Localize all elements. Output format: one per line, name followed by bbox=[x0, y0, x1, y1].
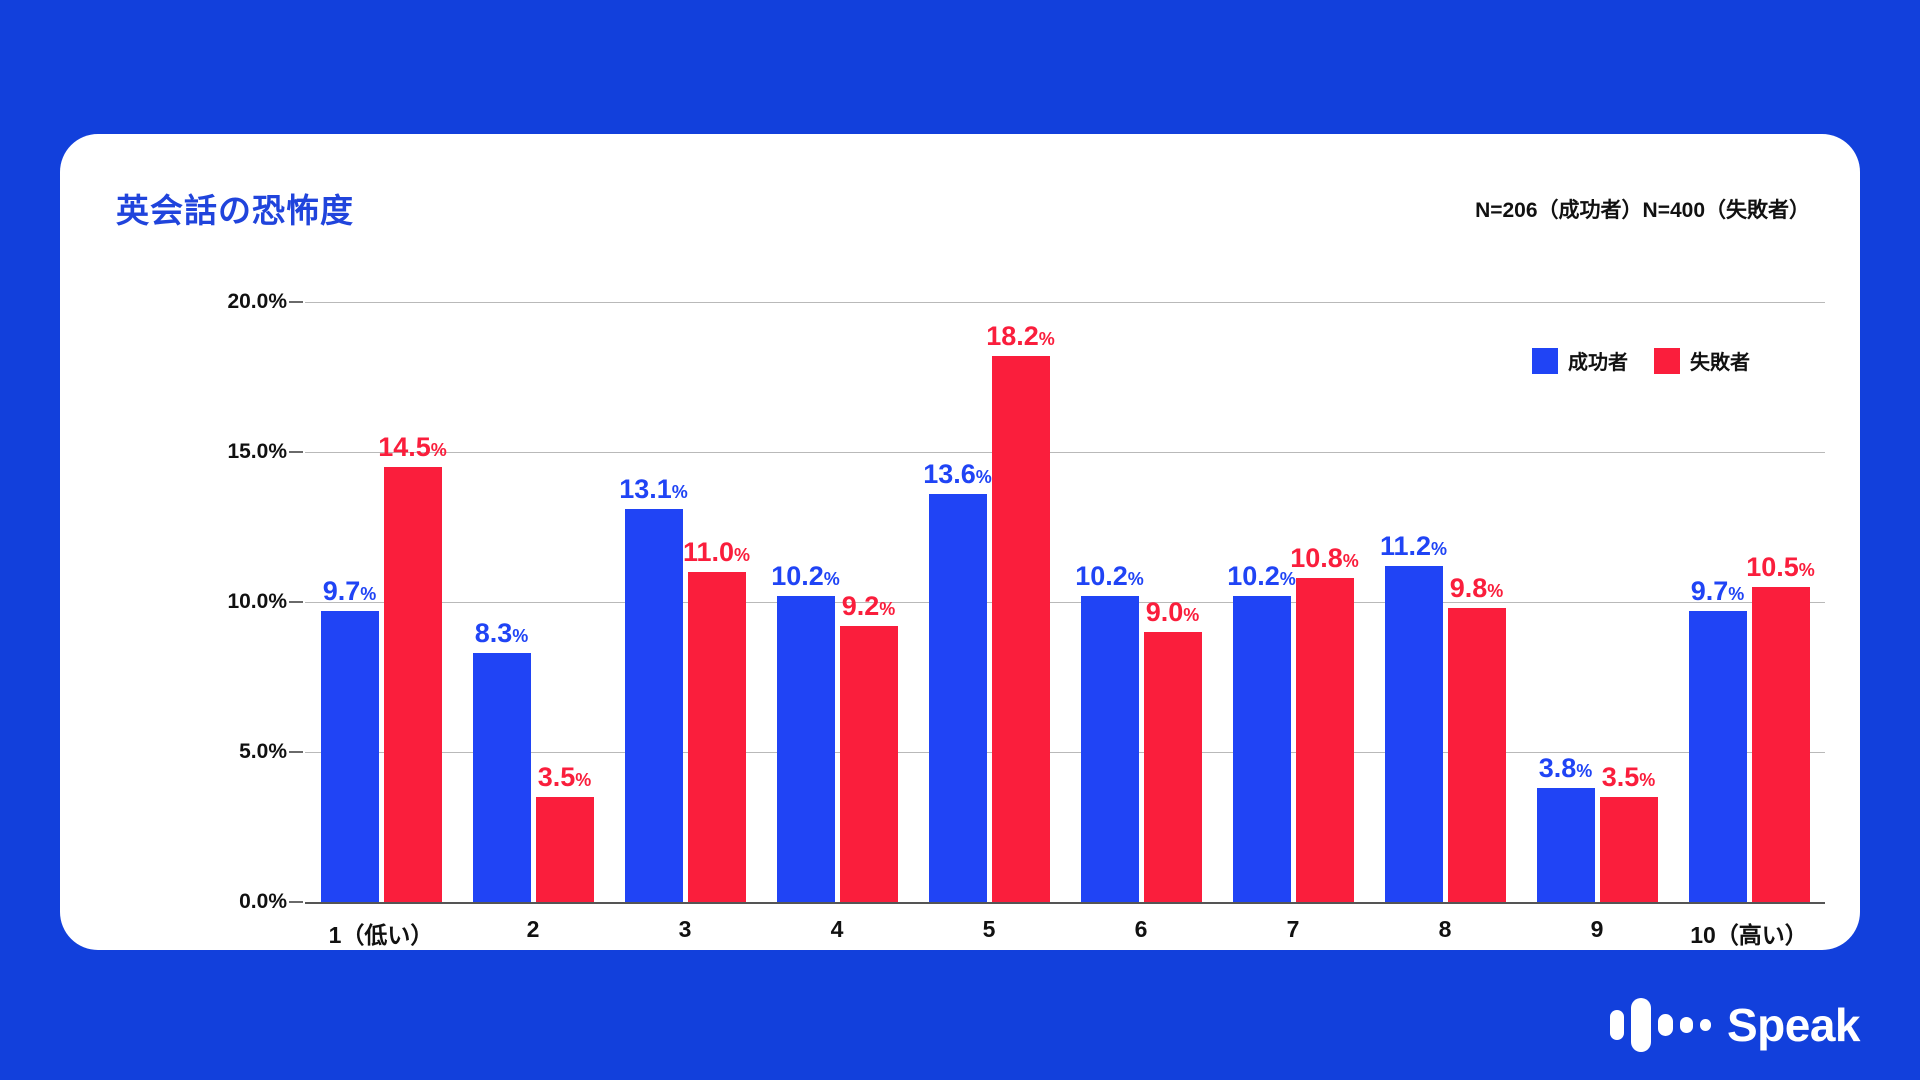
bar-value-label: 9.2% bbox=[842, 593, 896, 620]
bar-value-label: 11.2% bbox=[1380, 533, 1447, 560]
bar-value-label: 9.7% bbox=[323, 578, 377, 605]
bar-value-label: 10.5% bbox=[1746, 554, 1815, 581]
x-axis-tick-label: 3 bbox=[609, 916, 761, 950]
gridline bbox=[305, 902, 1825, 904]
bar-column: 3.8% bbox=[1537, 302, 1595, 902]
bar[interactable] bbox=[777, 596, 835, 902]
bar-column: 9.2% bbox=[840, 302, 898, 902]
bar-column: 8.3% bbox=[473, 302, 531, 902]
bar-value-label: 10.8% bbox=[1290, 545, 1359, 572]
bar-pair: 8.3%3.5% bbox=[457, 302, 609, 902]
y-axis-tick-mark bbox=[289, 751, 303, 753]
bar[interactable] bbox=[840, 626, 898, 902]
bar-column: 10.2% bbox=[777, 302, 835, 902]
bar-value-label: 13.1% bbox=[619, 476, 688, 503]
bar-value-label: 9.7% bbox=[1691, 578, 1745, 605]
bar-value-label: 3.5% bbox=[1602, 764, 1656, 791]
bar[interactable] bbox=[1233, 596, 1291, 902]
y-axis-tick-mark bbox=[289, 451, 303, 453]
sample-size-note: N=206（成功者）N=400（失敗者） bbox=[1475, 194, 1810, 224]
bar-column: 3.5% bbox=[536, 302, 594, 902]
y-axis-tick-label: 0.0% bbox=[239, 890, 287, 914]
x-axis-tick-label: 6 bbox=[1065, 916, 1217, 950]
page-title: 英会話の恐怖度 bbox=[116, 184, 354, 232]
bar-column: 10.2% bbox=[1233, 302, 1291, 902]
bar-column: 14.5% bbox=[384, 302, 442, 902]
brand-logo: Speak bbox=[1610, 998, 1860, 1052]
bar[interactable] bbox=[1081, 596, 1139, 902]
x-axis-tick-label: 10（高い） bbox=[1673, 916, 1825, 950]
bar-group: 13.1%11.0% bbox=[609, 302, 761, 902]
bar-value-label: 8.3% bbox=[475, 620, 529, 647]
bar-pair: 11.2%9.8% bbox=[1369, 302, 1521, 902]
bar-pair: 13.1%11.0% bbox=[609, 302, 761, 902]
bar-value-label: 9.0% bbox=[1146, 599, 1200, 626]
bar-group: 13.6%18.2% bbox=[913, 302, 1065, 902]
bar-column: 9.8% bbox=[1448, 302, 1506, 902]
bar-pair: 10.2%9.0% bbox=[1065, 302, 1217, 902]
bar-group: 10.2%9.0% bbox=[1065, 302, 1217, 902]
bar-column: 9.7% bbox=[321, 302, 379, 902]
bar-value-label: 9.8% bbox=[1450, 575, 1504, 602]
bar[interactable] bbox=[688, 572, 746, 902]
bar-column: 3.5% bbox=[1600, 302, 1658, 902]
bar[interactable] bbox=[384, 467, 442, 902]
bar-group: 8.3%3.5% bbox=[457, 302, 609, 902]
bar-value-label: 18.2% bbox=[986, 323, 1055, 350]
bar[interactable] bbox=[536, 797, 594, 902]
bar[interactable] bbox=[1296, 578, 1354, 902]
y-axis-tick-mark bbox=[289, 901, 303, 903]
bar-value-label: 10.2% bbox=[1075, 563, 1144, 590]
bar-pair: 3.8%3.5% bbox=[1521, 302, 1673, 902]
bar[interactable] bbox=[625, 509, 683, 902]
speak-waveform-icon bbox=[1610, 998, 1711, 1052]
y-axis-tick-mark bbox=[289, 601, 303, 603]
bar-group: 9.7%10.5% bbox=[1673, 302, 1825, 902]
bar-pair: 10.2%10.8% bbox=[1217, 302, 1369, 902]
bar[interactable] bbox=[321, 611, 379, 902]
bar-pair: 9.7%14.5% bbox=[305, 302, 457, 902]
bar[interactable] bbox=[1385, 566, 1443, 902]
bar-value-label: 10.2% bbox=[771, 563, 840, 590]
bar-column: 10.2% bbox=[1081, 302, 1139, 902]
x-axis-tick-label: 7 bbox=[1217, 916, 1369, 950]
bar-pair: 9.7%10.5% bbox=[1673, 302, 1825, 902]
bar-group: 3.8%3.5% bbox=[1521, 302, 1673, 902]
x-axis-tick-label: 1（低い） bbox=[305, 916, 457, 950]
x-axis-tick-label: 4 bbox=[761, 916, 913, 950]
bar[interactable] bbox=[1537, 788, 1595, 902]
y-axis-tick-label: 5.0% bbox=[239, 740, 287, 764]
bar[interactable] bbox=[1600, 797, 1658, 902]
x-axis-tick-label: 5 bbox=[913, 916, 1065, 950]
y-axis-tick-mark bbox=[289, 301, 303, 303]
bar-column: 10.5% bbox=[1752, 302, 1810, 902]
bar-column: 9.0% bbox=[1144, 302, 1202, 902]
bar-groups: 9.7%14.5%8.3%3.5%13.1%11.0%10.2%9.2%13.6… bbox=[305, 302, 1825, 902]
bar-column: 13.6% bbox=[929, 302, 987, 902]
bar[interactable] bbox=[1144, 632, 1202, 902]
bar-value-label: 13.6% bbox=[923, 461, 992, 488]
bar-value-label: 11.0% bbox=[683, 539, 750, 566]
bar[interactable] bbox=[1689, 611, 1747, 902]
chart-card: 英会話の恐怖度 N=206（成功者）N=400（失敗者） 成功者失敗者 20.0… bbox=[60, 134, 1860, 950]
bar-pair: 13.6%18.2% bbox=[913, 302, 1065, 902]
bar-group: 10.2%10.8% bbox=[1217, 302, 1369, 902]
plot-area: 20.0%15.0%10.0%5.0%0.0% 9.7%14.5%8.3%3.5… bbox=[305, 302, 1825, 902]
bar-column: 10.8% bbox=[1296, 302, 1354, 902]
bar-value-label: 3.8% bbox=[1539, 755, 1593, 782]
x-axis-tick-labels: 1（低い）2345678910（高い） bbox=[305, 916, 1825, 950]
bar[interactable] bbox=[992, 356, 1050, 902]
bar-value-label: 3.5% bbox=[538, 764, 592, 791]
y-axis-tick-label: 15.0% bbox=[227, 440, 287, 464]
bar-column: 18.2% bbox=[992, 302, 1050, 902]
bar[interactable] bbox=[1752, 587, 1810, 902]
bar-value-label: 14.5% bbox=[378, 434, 447, 461]
bar-column: 11.2% bbox=[1385, 302, 1443, 902]
bar-column: 13.1% bbox=[625, 302, 683, 902]
brand-name: Speak bbox=[1727, 998, 1860, 1052]
bar-value-label: 10.2% bbox=[1227, 563, 1296, 590]
bar-column: 11.0% bbox=[688, 302, 746, 902]
y-axis-tick-label: 10.0% bbox=[227, 590, 287, 614]
bar[interactable] bbox=[929, 494, 987, 902]
bar[interactable] bbox=[1448, 608, 1506, 902]
bar-group: 9.7%14.5% bbox=[305, 302, 457, 902]
y-axis-tick-label: 20.0% bbox=[227, 290, 287, 314]
bar-pair: 10.2%9.2% bbox=[761, 302, 913, 902]
page-root: 英会話の恐怖度 N=206（成功者）N=400（失敗者） 成功者失敗者 20.0… bbox=[0, 0, 1920, 1080]
x-axis-tick-label: 9 bbox=[1521, 916, 1673, 950]
bar-group: 10.2%9.2% bbox=[761, 302, 913, 902]
bar-column: 9.7% bbox=[1689, 302, 1747, 902]
bar[interactable] bbox=[473, 653, 531, 902]
bar-group: 11.2%9.8% bbox=[1369, 302, 1521, 902]
x-axis-tick-label: 2 bbox=[457, 916, 609, 950]
x-axis-tick-label: 8 bbox=[1369, 916, 1521, 950]
